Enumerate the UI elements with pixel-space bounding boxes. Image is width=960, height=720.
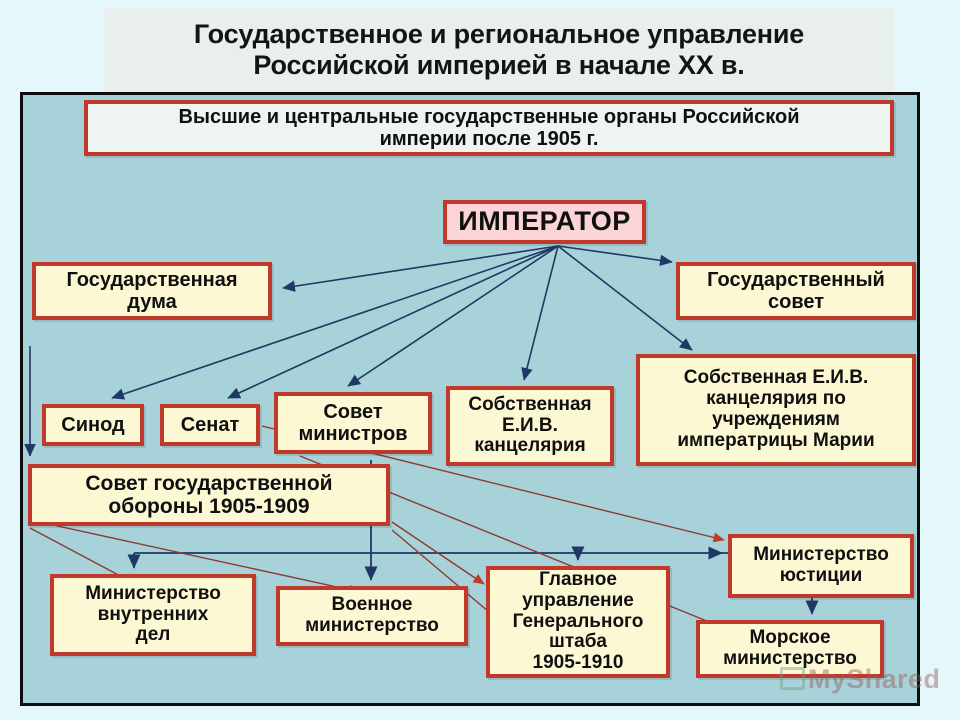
node-own-chancellery[interactable]: Собственная Е.И.В. канцелярия: [446, 386, 614, 466]
node-war-ministry[interactable]: Военное министерство: [276, 586, 468, 646]
node-emperor[interactable]: ИМПЕРАТОР: [443, 200, 646, 244]
page-title: Государственное и региональное управлени…: [184, 19, 814, 82]
node-ministry-internal-affairs[interactable]: Министерство внутренних дел: [50, 574, 256, 656]
node-ministry-justice[interactable]: Министерство юстиции: [728, 534, 914, 598]
subtitle-box: Высшие и центральные государственные орг…: [84, 100, 894, 156]
node-synod[interactable]: Синод: [42, 404, 144, 446]
node-naval-ministry[interactable]: Морское министерство: [696, 620, 884, 678]
node-council-of-ministers[interactable]: Совет министров: [274, 392, 432, 454]
node-state-council[interactable]: Государственный совет: [676, 262, 916, 320]
page-title-block: Государственное и региональное управлени…: [104, 8, 894, 92]
node-state-defense-council[interactable]: Совет государственной обороны 1905-1909: [28, 464, 390, 526]
node-senate[interactable]: Сенат: [160, 404, 260, 446]
node-state-duma[interactable]: Государственная дума: [32, 262, 272, 320]
node-chancellery-empress-maria[interactable]: Собственная Е.И.В. канцелярия по учрежде…: [636, 354, 916, 466]
node-general-staff-directorate[interactable]: Главное управление Генерального штаба 19…: [486, 566, 670, 678]
